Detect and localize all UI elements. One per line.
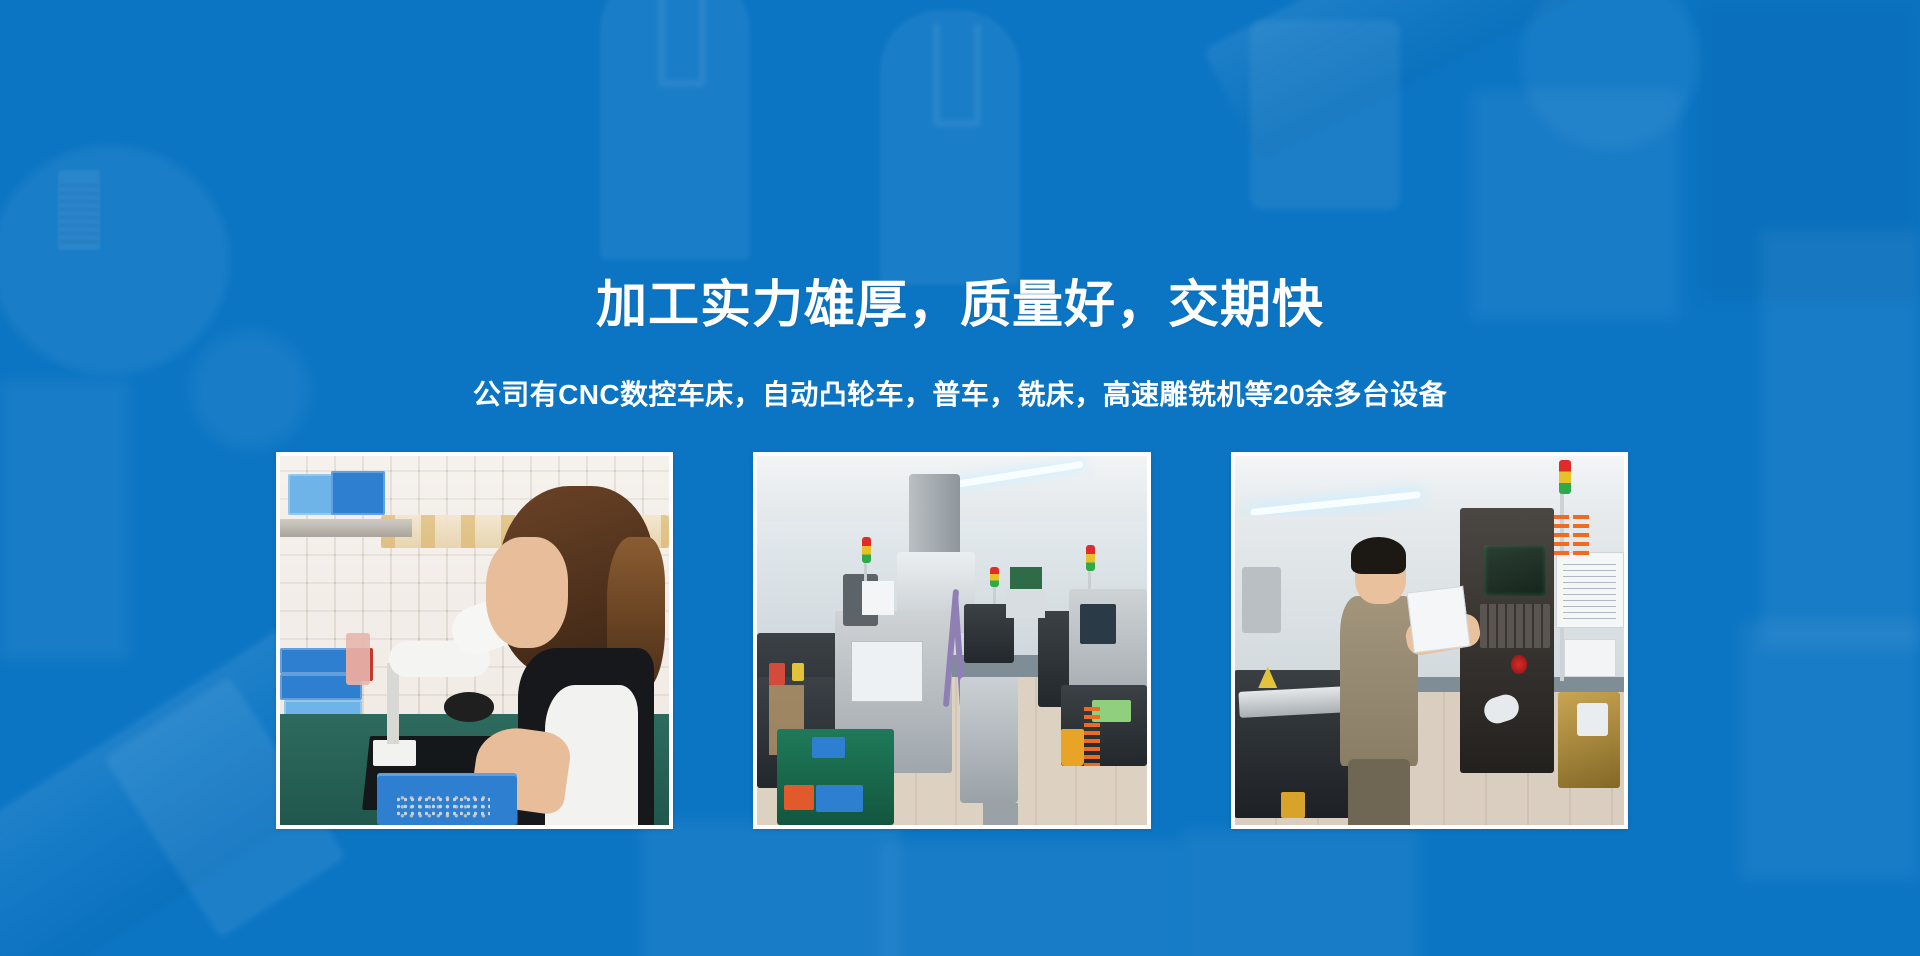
photo-gallery: 品质检验 — 显微镜检测 bbox=[236, 436, 1668, 813]
watermark-cylinder-top-right bbox=[1520, 0, 1700, 150]
watermark-block-g bbox=[1180, 830, 1420, 956]
watermark-block-f bbox=[880, 840, 1180, 956]
photo-1-image bbox=[280, 456, 669, 825]
gallery-photo-3[interactable]: 机台操作 — 程序调试 bbox=[1231, 452, 1628, 829]
gallery-photo-1[interactable]: 品质检验 — 显微镜检测 bbox=[276, 452, 673, 829]
watermark-block-d bbox=[1740, 620, 1920, 880]
banner-subheadline: 公司有CNC数控车床，自动凸轮车，普车，铣床，高速雕铣机等20余多台设备 bbox=[0, 375, 1920, 415]
photo-3-image bbox=[1235, 456, 1624, 825]
watermark-screw-icon bbox=[58, 170, 100, 250]
watermark-nut-icon bbox=[1250, 20, 1400, 210]
watermark-pin-left-icon bbox=[600, 0, 750, 260]
banner-headline: 加工实力雄厚，质量好，交期快 bbox=[0, 275, 1920, 335]
promo-banner: 加工实力雄厚，质量好，交期快 公司有CNC数控车床，自动凸轮车，普车，铣床，高速… bbox=[0, 0, 1920, 956]
watermark-block-h bbox=[0, 380, 130, 660]
watermark-block-b bbox=[1700, 0, 1920, 300]
watermark-disc-top-left bbox=[0, 145, 230, 375]
watermark-shaft-top-right bbox=[1203, 0, 1643, 161]
watermark-block-e bbox=[640, 820, 900, 956]
photo-2-image bbox=[757, 456, 1146, 825]
gallery-photo-2[interactable]: 数控车间 — CNC加工设备 bbox=[753, 452, 1150, 829]
watermark-pin-right-icon bbox=[880, 10, 1020, 285]
